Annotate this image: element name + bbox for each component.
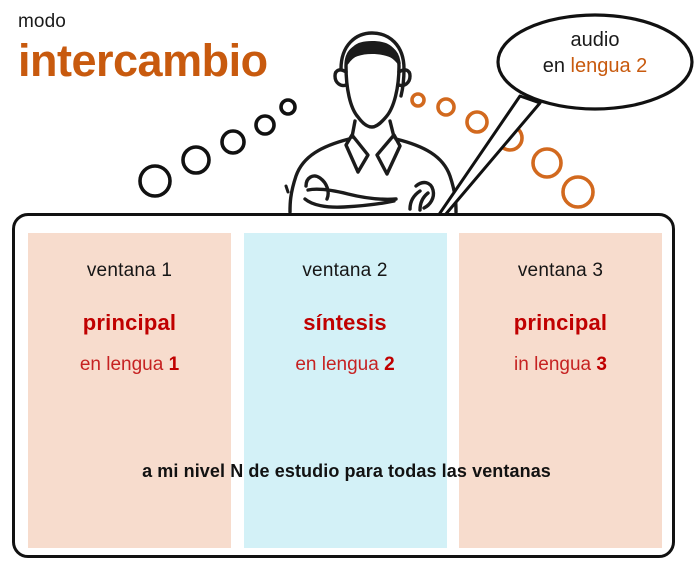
windows-panel: ventana 1 principal en lengua 1 ventana … [12, 213, 675, 558]
window-language-number: 1 [169, 354, 180, 375]
window-language-number: 2 [384, 354, 395, 375]
window-language-prefix: in lengua [514, 354, 596, 375]
window-language-prefix: en lengua [295, 354, 384, 375]
window-kind: principal [459, 310, 662, 336]
balloon-line-2-prefix: en [543, 55, 571, 77]
balloon-line-2: en lengua 2 [510, 54, 680, 80]
window-language-number: 3 [596, 354, 607, 375]
thought-bubbles-dark-icon [140, 100, 295, 196]
balloon-line-2-accent: lengua 2 [571, 55, 648, 77]
window-column-1[interactable]: ventana 1 principal en lengua 1 [28, 233, 231, 548]
heading-block: modo intercambio [18, 12, 338, 84]
window-kind: síntesis [244, 310, 447, 336]
window-language-prefix: en lengua [80, 354, 169, 375]
window-column-2[interactable]: ventana 2 síntesis en lengua 2 [244, 233, 447, 548]
window-label: ventana 1 [28, 260, 231, 282]
eyebrow-label: modo [18, 12, 338, 33]
window-language: en lengua 2 [244, 354, 447, 376]
window-label: ventana 3 [459, 260, 662, 282]
window-language: en lengua 1 [28, 354, 231, 376]
window-column-3[interactable]: ventana 3 principal in lengua 3 [459, 233, 662, 548]
thought-bubbles-orange-icon [412, 94, 593, 207]
windows-columns: ventana 1 principal en lengua 1 ventana … [28, 233, 662, 548]
window-label: ventana 2 [244, 260, 447, 282]
page-title: intercambio [18, 37, 338, 84]
balloon-line-1: audio [510, 28, 680, 54]
speech-balloon-text: audio en lengua 2 [510, 28, 680, 79]
window-kind: principal [28, 310, 231, 336]
window-language: in lengua 3 [459, 354, 662, 376]
panel-footer-note: a mi nivel N de estudio para todas las v… [15, 461, 678, 482]
